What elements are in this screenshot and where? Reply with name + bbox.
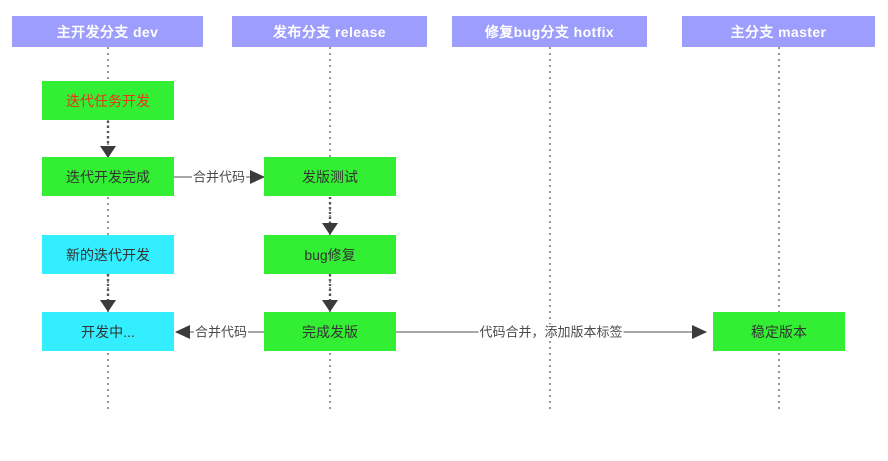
- lane-header-hotfix-label: 修复bug分支 hotfix: [485, 22, 614, 42]
- arrowhead-dev3-dev4: [100, 300, 116, 312]
- node-release-test-label: 发版测试: [302, 167, 358, 187]
- node-dev-in-progress-label: 开发中...: [81, 322, 135, 342]
- node-dev-new-iteration-label: 新的迭代开发: [66, 245, 150, 265]
- arrowhead-merge-top: [250, 170, 265, 184]
- node-master-stable[interactable]: 稳定版本: [713, 312, 845, 351]
- arrowhead-merge-bottom: [175, 325, 190, 339]
- node-release-bugfix-label: bug修复: [304, 245, 355, 265]
- lane-header-master[interactable]: 主分支 master: [682, 16, 875, 47]
- edge-label-merge-bottom: 合并代码: [194, 325, 248, 340]
- node-release-published-label: 完成发版: [302, 322, 358, 342]
- arrowhead-rel1-rel2: [322, 223, 338, 235]
- node-dev-iteration-task-label: 迭代任务开发: [66, 91, 150, 111]
- lane-header-master-label: 主分支 master: [731, 22, 827, 42]
- node-dev-iteration-done-label: 迭代开发完成: [66, 167, 150, 187]
- edge-label-merge-top: 合并代码: [192, 170, 246, 185]
- arrowhead-merge-master: [692, 325, 707, 339]
- node-dev-in-progress[interactable]: 开发中...: [42, 312, 174, 351]
- edge-label-merge-master: 代码合并，添加版本标签: [478, 325, 623, 340]
- node-release-test[interactable]: 发版测试: [264, 157, 396, 196]
- lane-header-release[interactable]: 发布分支 release: [232, 16, 427, 47]
- sequence-diagram-canvas: 主开发分支 dev 发布分支 release 修复bug分支 hotfix 主分…: [0, 0, 888, 461]
- node-dev-new-iteration[interactable]: 新的迭代开发: [42, 235, 174, 274]
- lane-header-dev-label: 主开发分支 dev: [57, 22, 159, 42]
- lane-header-dev[interactable]: 主开发分支 dev: [12, 16, 203, 47]
- node-dev-iteration-task[interactable]: 迭代任务开发: [42, 81, 174, 120]
- node-dev-iteration-done[interactable]: 迭代开发完成: [42, 157, 174, 196]
- lane-header-release-label: 发布分支 release: [273, 22, 386, 42]
- node-release-bugfix[interactable]: bug修复: [264, 235, 396, 274]
- connector-layer: [0, 0, 888, 461]
- node-master-stable-label: 稳定版本: [751, 322, 807, 342]
- arrowhead-rel2-rel3: [322, 300, 338, 312]
- node-release-published[interactable]: 完成发版: [264, 312, 396, 351]
- lane-header-hotfix[interactable]: 修复bug分支 hotfix: [452, 16, 647, 47]
